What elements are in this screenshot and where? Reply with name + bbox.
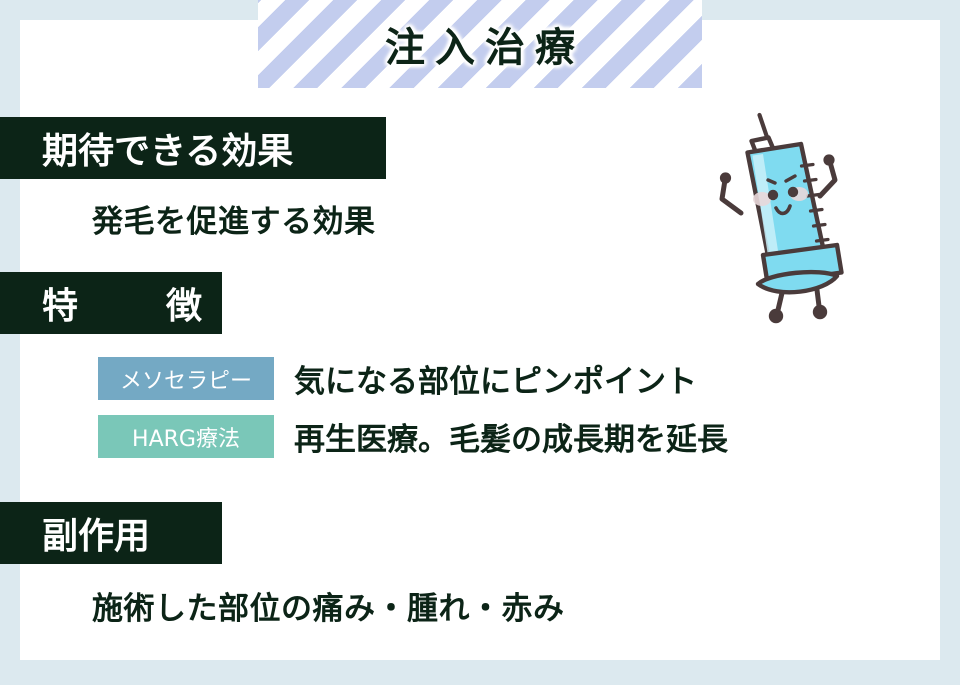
syringe-mascot-illustration	[700, 100, 880, 350]
page-title: 注入治療	[375, 15, 585, 73]
section-header-expected-effects: 期待できる効果	[0, 117, 386, 179]
section-body-side-effects: 施術した部位の痛み・腫れ・赤み	[92, 583, 565, 628]
feature-description: 気になる部位にピンポイント	[294, 356, 697, 401]
section-header-side-effects: 副作用	[0, 502, 222, 564]
title-band: 注入治療	[258, 0, 702, 88]
section-header-label: 特 徴	[0, 277, 228, 329]
syringe-icon	[700, 100, 880, 350]
infographic-page: 注入治療 期待できる効果 発毛を促進する効果 特 徴 メソセラピー 気になる部位…	[0, 0, 960, 685]
tag-mesotherapy: メソセラピー	[98, 357, 274, 400]
feature-description: 再生医療。毛髪の成長期を延長	[294, 414, 728, 459]
tag-harg: HARG療法	[98, 415, 274, 458]
section-header-features: 特 徴	[0, 272, 222, 334]
feature-row-harg: HARG療法 再生医療。毛髪の成長期を延長	[98, 414, 728, 459]
section-header-label: 副作用	[0, 507, 150, 559]
feature-row-mesotherapy: メソセラピー 気になる部位にピンポイント	[98, 356, 697, 401]
section-body-expected-effects: 発毛を促進する効果	[92, 196, 376, 241]
section-header-label: 期待できる効果	[0, 122, 293, 174]
